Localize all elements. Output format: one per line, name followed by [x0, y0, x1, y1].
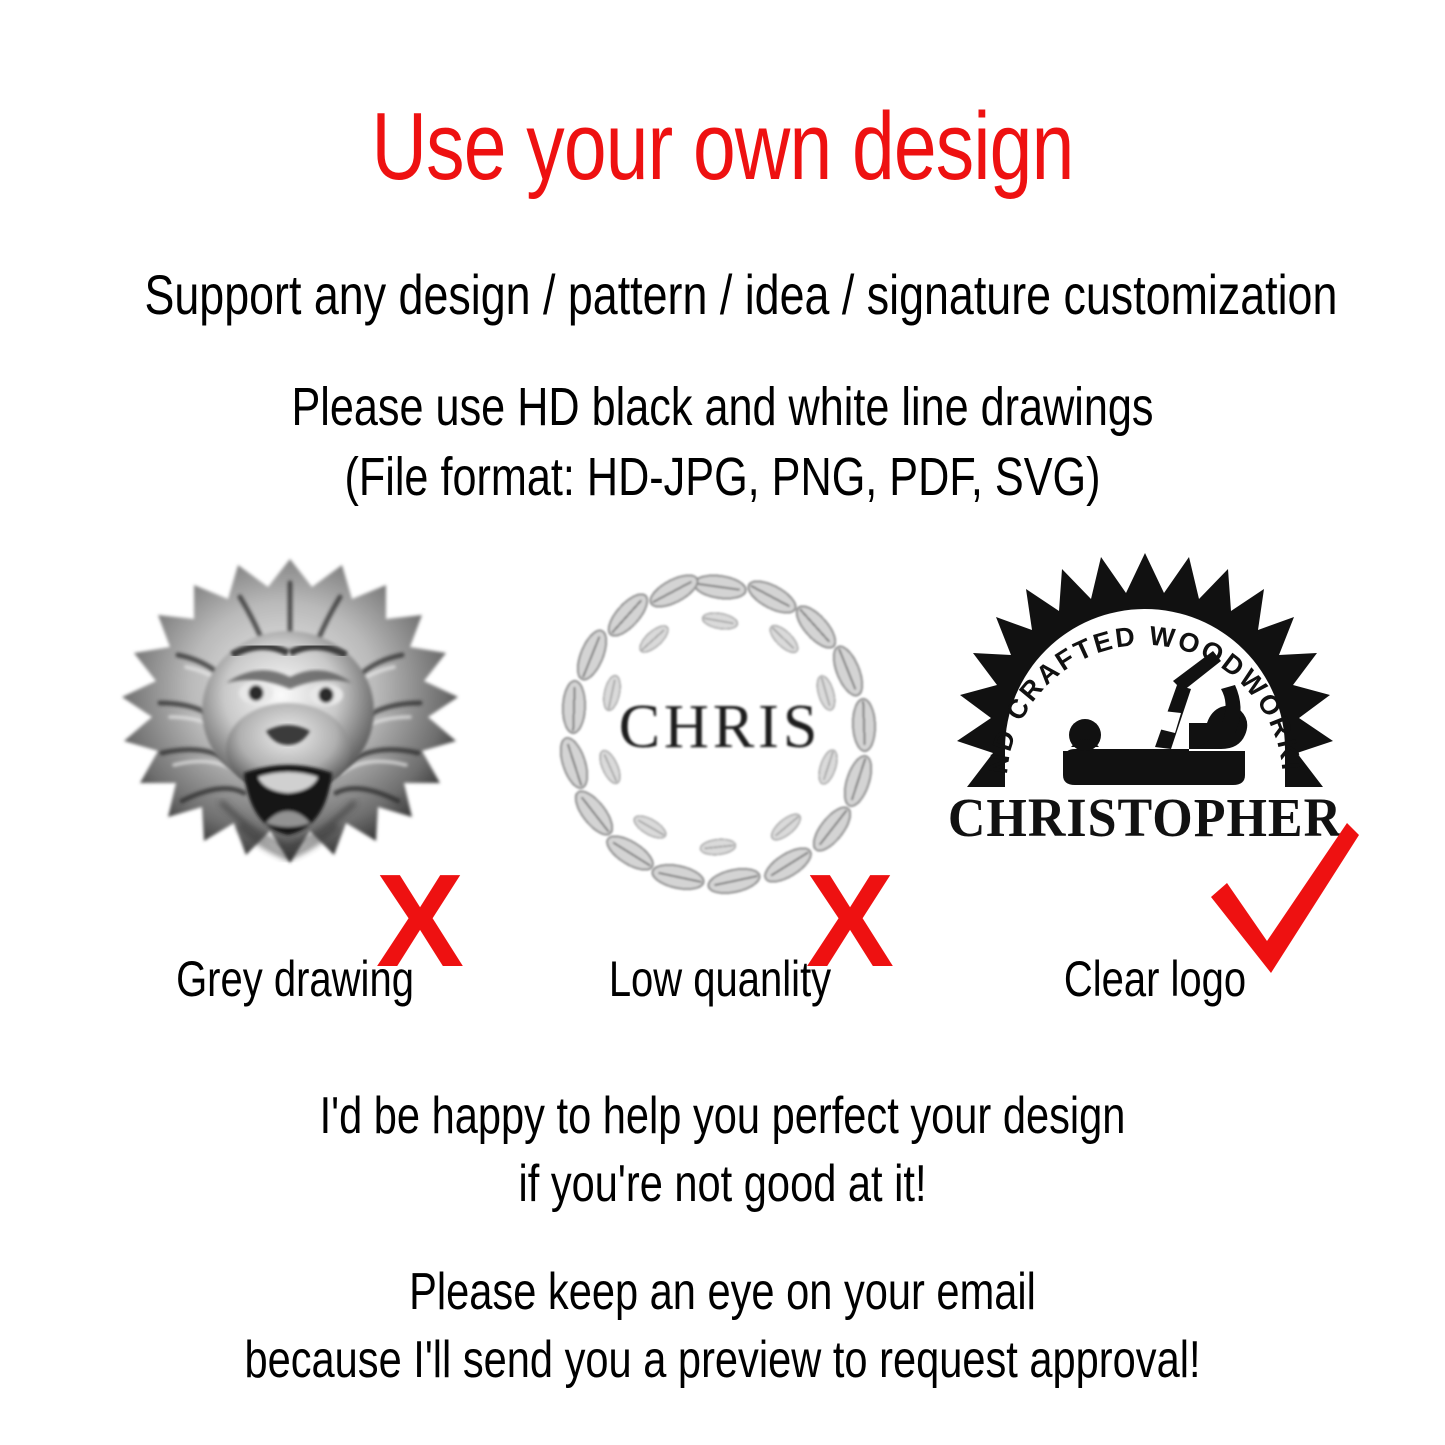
help-offer-line-1: I'd be happy to help you perfect your de… [320, 1087, 1126, 1145]
sample-low-quality: CHRIS X [520, 535, 920, 935]
wreath-monogram-text: CHRIS [619, 693, 822, 761]
file-requirements: Please use HD black and white line drawi… [145, 372, 1301, 512]
caption-grey-drawing: Grey drawing [135, 948, 455, 1010]
support-line: Support any design / pattern / idea / si… [145, 262, 1301, 328]
sample-grey-drawing: X [90, 535, 490, 935]
caption-row: Grey drawing Low quanlity Clear logo [0, 948, 1445, 1018]
file-requirements-line-2: (File format: HD-JPG, PNG, PDF, SVG) [145, 442, 1301, 512]
sample-row: X [0, 535, 1445, 935]
promo-graphic: Use your own design Support any design /… [0, 0, 1445, 1445]
caption-clear-logo: Clear logo [995, 948, 1315, 1010]
email-notice-line-2: because I'll send you a preview to reque… [145, 1326, 1301, 1394]
help-offer-line-2: if you're not good at it! [145, 1150, 1301, 1218]
email-notice-line-1: Please keep an eye on your email [409, 1263, 1036, 1321]
file-requirements-line-1: Please use HD black and white line drawi… [291, 377, 1153, 437]
email-notice: Please keep an eye on your email because… [145, 1258, 1301, 1394]
help-offer: I'd be happy to help you perfect your de… [145, 1082, 1301, 1218]
caption-low-quality: Low quanlity [560, 948, 880, 1010]
page-title: Use your own design [145, 92, 1301, 202]
sample-clear-logo: HAND CRAFTED WOODWORKING [945, 535, 1345, 935]
